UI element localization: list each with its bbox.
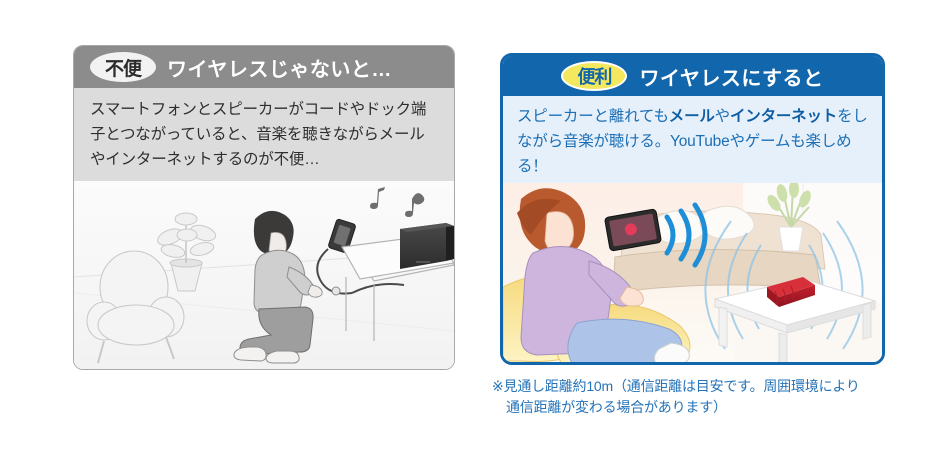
right-panel-title: ワイヤレスにすると (639, 62, 823, 91)
desc-seg-3-bold: インターネット (730, 108, 837, 125)
left-panel-title: ワイヤレスじゃないと… (167, 53, 392, 82)
desc-seg-1-bold: メール (669, 108, 715, 125)
footnote-line-2: 通信距離が変わる場合があります） (492, 397, 912, 418)
desc-seg-2: や (715, 108, 730, 125)
right-panel-description: スピーカーと離れてもメールやインターネットをしながら音楽が聴ける。YouTube… (517, 104, 868, 179)
left-panel-description-block: スマートフォンとスピーカーがコードやドック端子とつながっていると、音楽を聴きなが… (74, 88, 454, 181)
footnote-distance-note: ※見通し距離約10m（通信距離は目安です。周囲環境により 通信距離が変わる場合が… (492, 376, 912, 418)
left-panel-header: 不便 ワイヤレスじゃないと… (74, 46, 454, 88)
cable-plug (332, 287, 340, 295)
wireless-speaker-illustration (503, 183, 882, 365)
wired-speaker-illustration (74, 181, 454, 369)
left-panel-description: スマートフォンとスピーカーがコードやドック端子とつながっていると、音楽を聴きなが… (90, 97, 438, 172)
right-panel-description-block: スピーカーと離れてもメールやインターネットをしながら音楽が聴ける。YouTube… (503, 96, 882, 183)
status-badge-inconvenient: 不便 (90, 52, 156, 82)
status-badge-convenient: 便利 (561, 61, 627, 91)
panel-wireless-benefit: 便利 ワイヤレスにすると スピーカーと離れてもメールやインターネットをしながら音… (500, 53, 885, 365)
footnote-line-1: ※見通し距離約10m（通信距離は目安です。周囲環境により (492, 378, 860, 394)
right-panel-header: 便利 ワイヤレスにすると (503, 56, 882, 96)
wired-scene-svg (74, 181, 454, 369)
desc-seg-0: スピーカーと離れても (517, 108, 669, 125)
panel-wired-drawback: 不便 ワイヤレスじゃないと… スマートフォンとスピーカーがコードやドック端子とつ… (73, 45, 455, 370)
wireless-scene-svg (503, 183, 882, 365)
